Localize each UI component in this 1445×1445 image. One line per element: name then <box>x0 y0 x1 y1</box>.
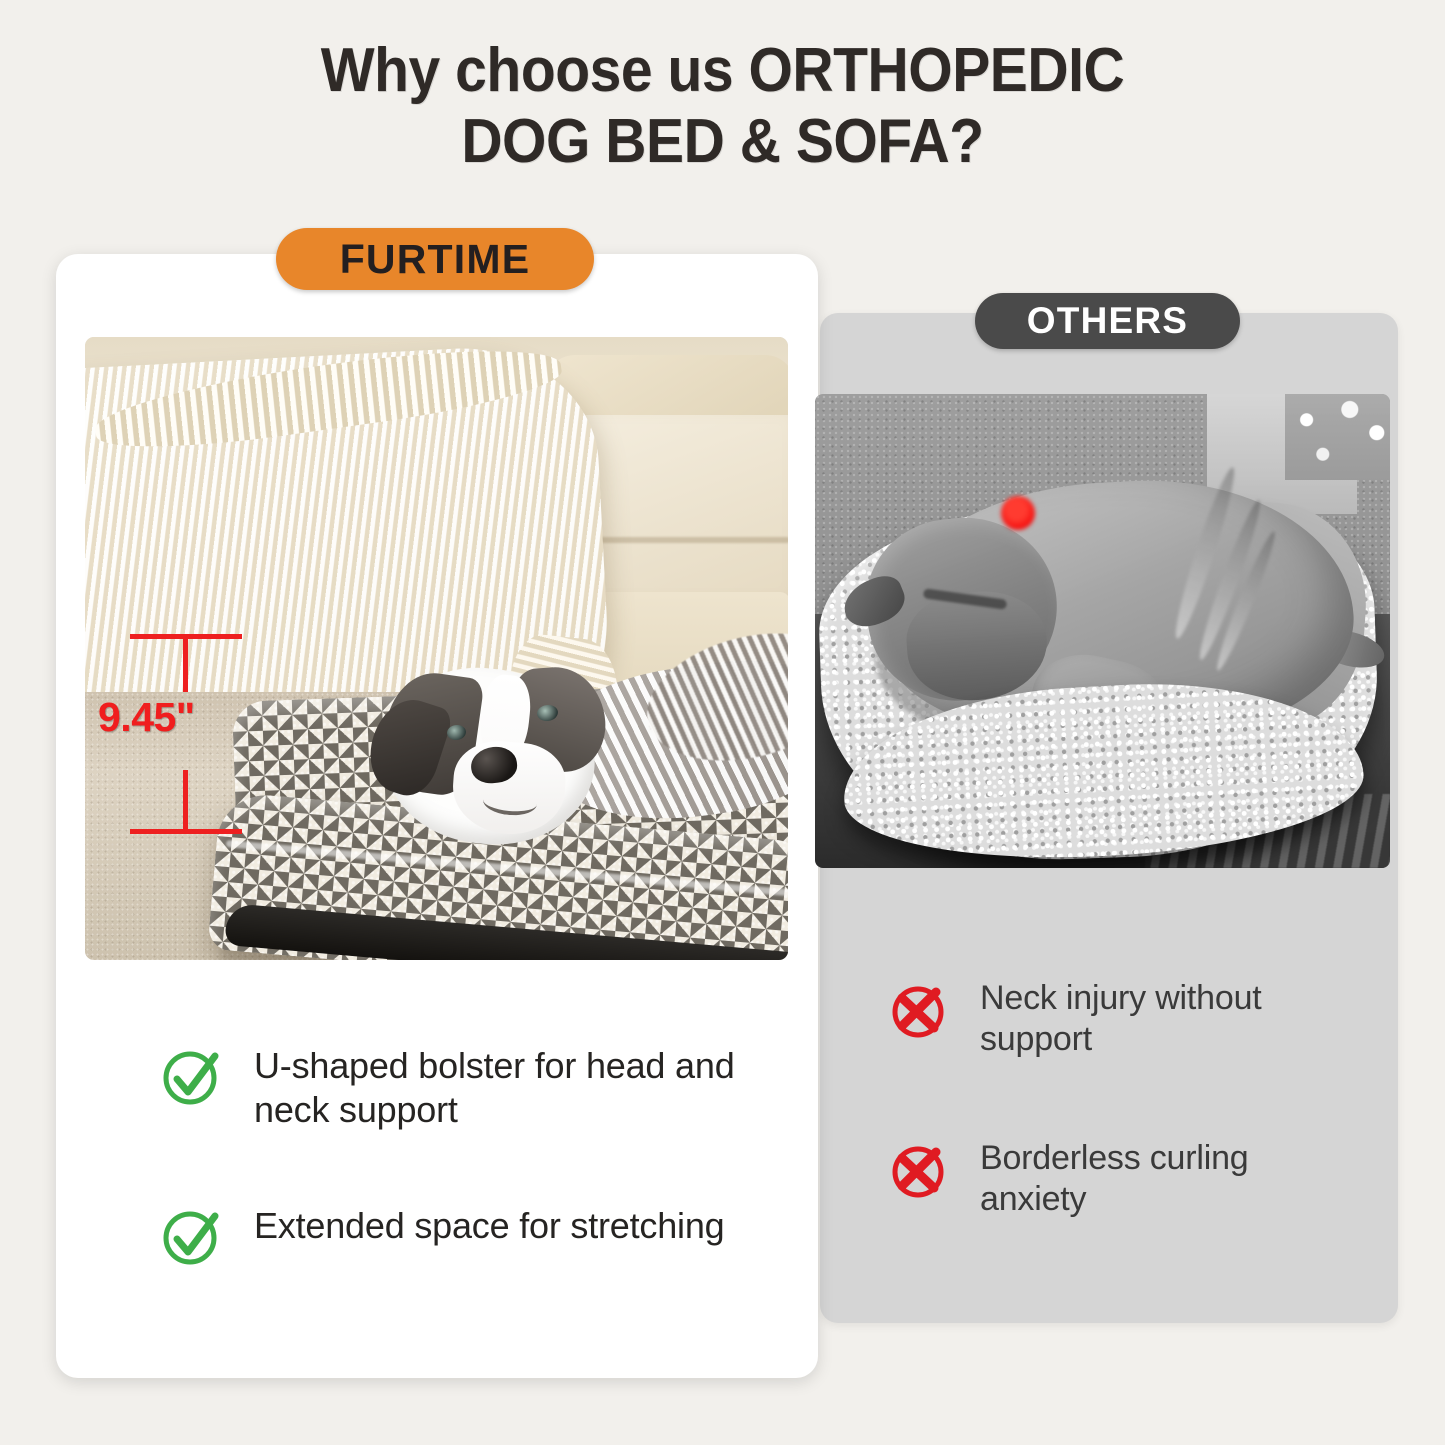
others-product-photo <box>815 394 1390 868</box>
badge-furtime-label: FURTIME <box>340 236 531 283</box>
list-item: U-shaped bolster for head and neck suppo… <box>160 1044 760 1132</box>
circle-check-icon <box>160 1204 224 1268</box>
circle-check-icon <box>160 1044 224 1108</box>
list-item: Extended space for stretching <box>160 1204 760 1268</box>
badge-others[interactable]: OTHERS <box>975 293 1240 349</box>
dimension-stem-top <box>183 638 188 692</box>
dimension-line-icon: 9.45" <box>130 634 260 834</box>
badge-others-label: OTHERS <box>1027 300 1188 342</box>
badge-furtime[interactable]: FURTIME <box>276 228 594 290</box>
list-item-label: Borderless curling anxiety <box>980 1138 1358 1221</box>
dimension-label: 9.45" <box>98 694 278 741</box>
list-item-label: U-shaped bolster for head and neck suppo… <box>254 1044 760 1132</box>
dimension-cap-bottom <box>130 829 242 834</box>
dimension-stem-bottom <box>183 770 188 830</box>
list-item: Borderless curling anxiety <box>888 1138 1358 1221</box>
list-item: Neck injury without support <box>888 978 1358 1061</box>
list-item-label: Extended space for stretching <box>254 1204 724 1248</box>
pain-point-dot-icon <box>1001 496 1035 530</box>
page-title: Why choose us ORTHOPEDIC DOG BED & SOFA? <box>58 36 1387 177</box>
circle-cross-icon <box>888 978 952 1042</box>
list-item-label: Neck injury without support <box>980 978 1358 1061</box>
lace-fabric <box>1285 394 1390 480</box>
circle-cross-icon <box>888 1138 952 1202</box>
